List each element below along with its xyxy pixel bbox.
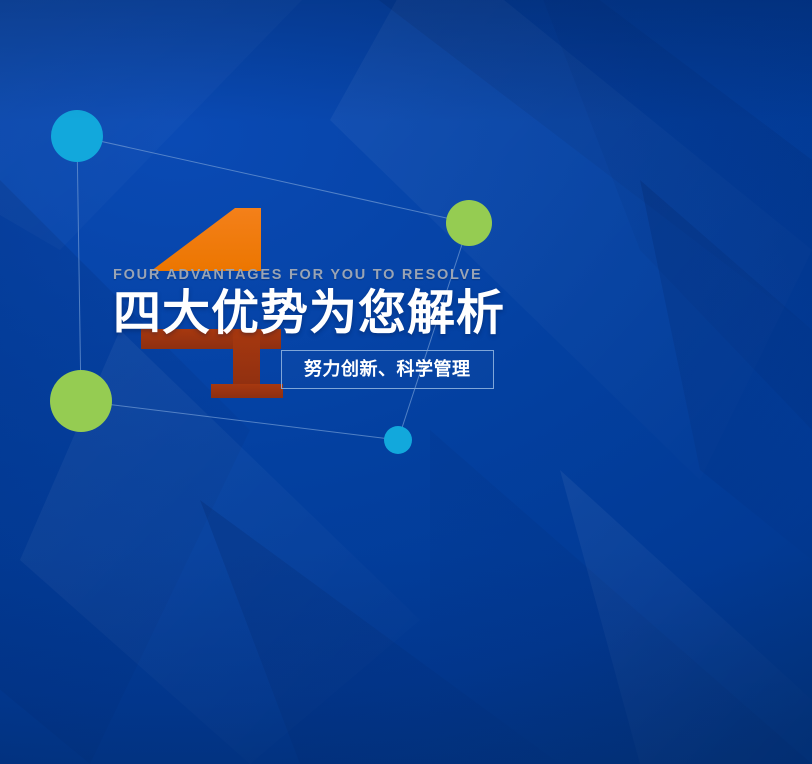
banner-copy: FOUR ADVANTAGES FOR YOU TO RESOLVE 四大优势为… <box>113 268 713 339</box>
line-cyan-top-to-green-right <box>77 136 469 223</box>
node-cyan-bottom <box>384 426 412 454</box>
banner-headline: 四大优势为您解析 <box>113 289 713 340</box>
node-green-bottom-left <box>50 370 112 432</box>
line-green-bottom-to-cyan-bottom <box>81 401 398 440</box>
banner-stage: FOUR ADVANTAGES FOR YOU TO RESOLVE 四大优势为… <box>0 0 812 764</box>
line-cyan-top-to-green-bottom-left <box>77 136 81 401</box>
node-cyan-top-left <box>51 110 103 162</box>
tagline-row: 努力创新、科学管理 <box>281 350 494 389</box>
node-green-right <box>446 200 492 246</box>
tagline-badge: 努力创新、科学管理 <box>281 350 494 389</box>
banner-eyebrow: FOUR ADVANTAGES FOR YOU TO RESOLVE <box>113 268 713 283</box>
